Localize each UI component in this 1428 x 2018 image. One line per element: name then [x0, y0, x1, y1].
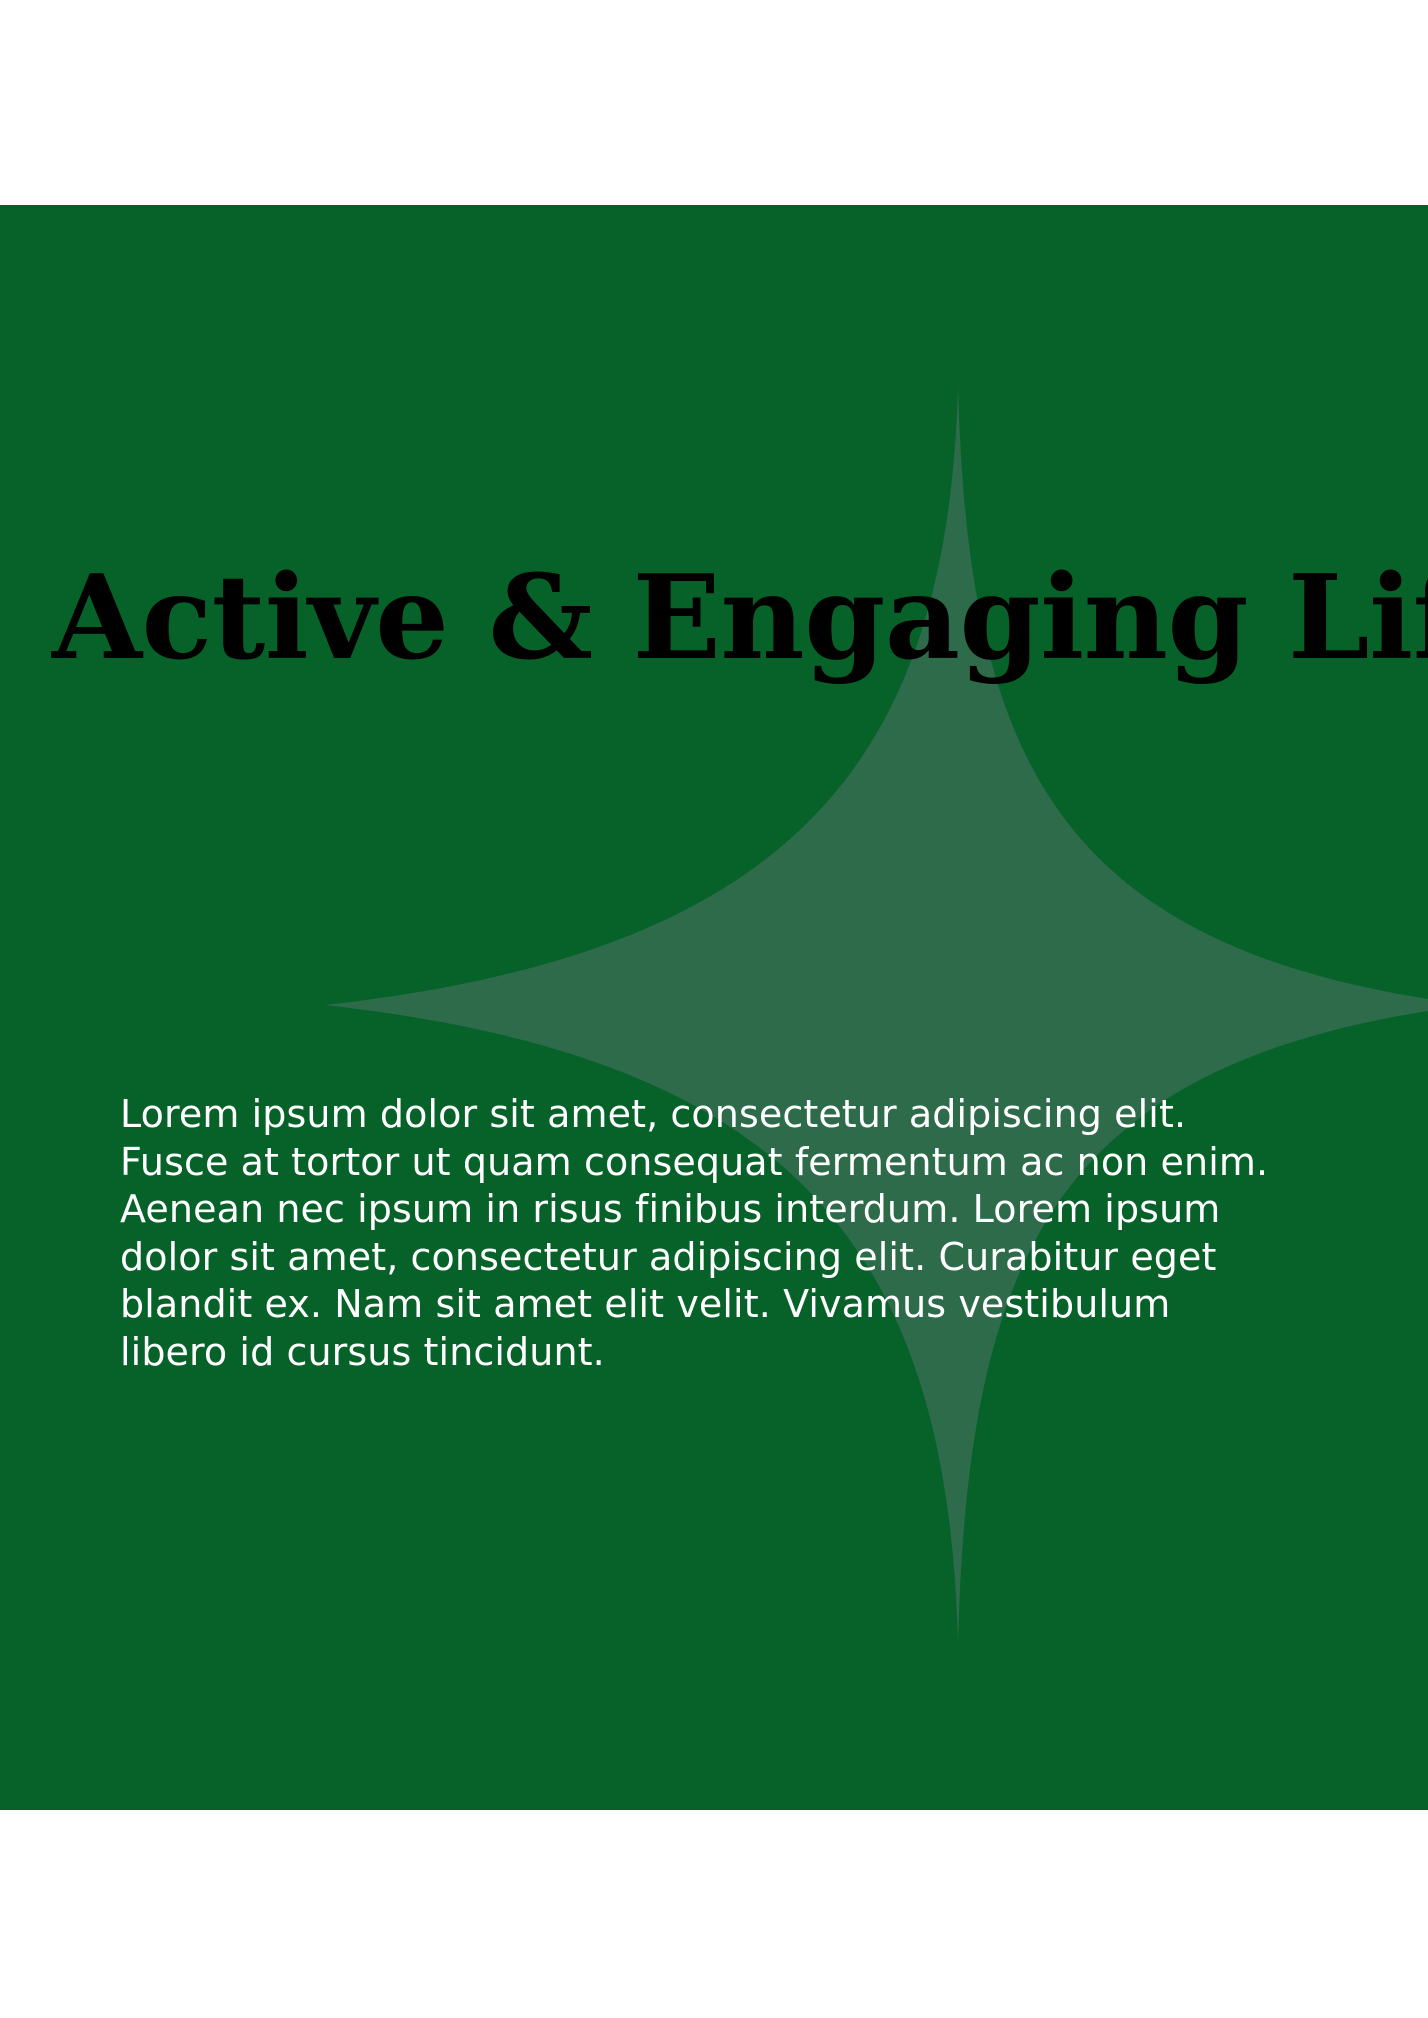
page-canvas: Active & Engaging Lifestyle Lorem ipsum … [0, 0, 1428, 2018]
body-paragraph: Lorem ipsum dolor sit amet, consectetur … [120, 1091, 1270, 1376]
sparkle-decoration [0, 205, 1428, 1810]
page-title: Active & Engaging Lifestyle [52, 560, 1428, 676]
slide-panel: Active & Engaging Lifestyle Lorem ipsum … [0, 205, 1428, 1810]
